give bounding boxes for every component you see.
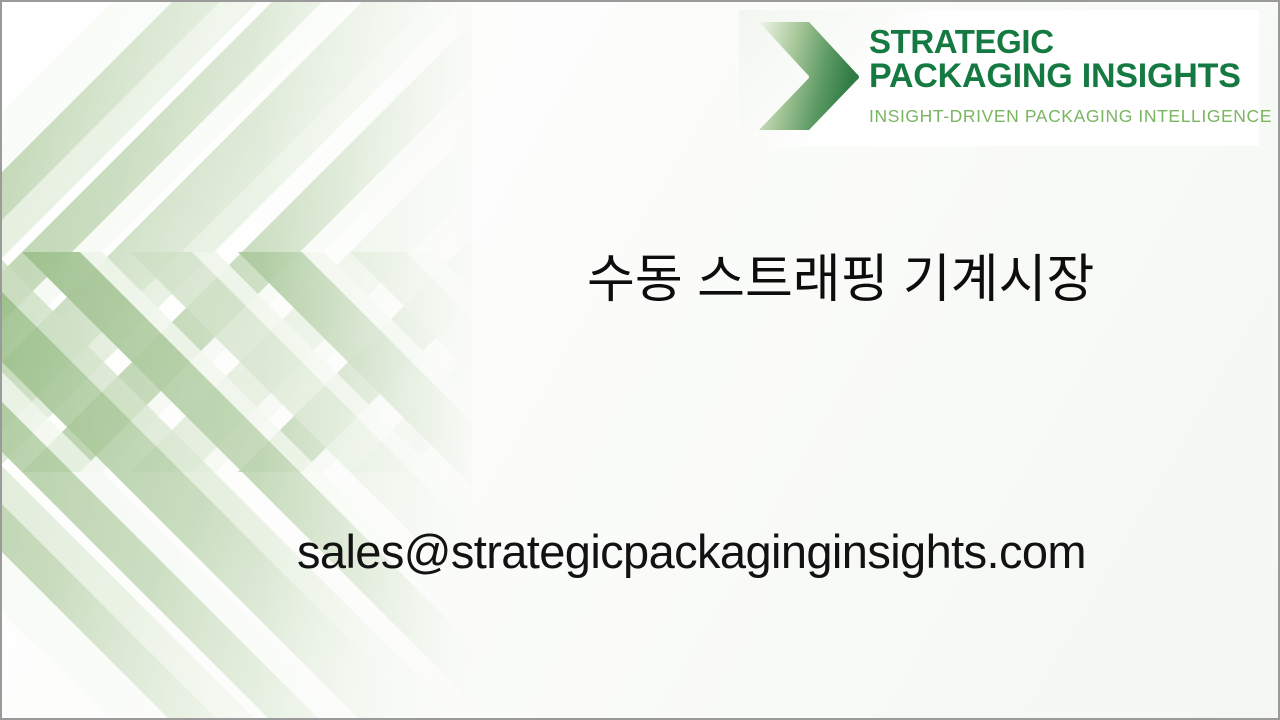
logo-name-line-1: STRATEGIC xyxy=(869,24,1272,59)
chevron-stripes-graphic xyxy=(2,2,472,720)
presentation-slide: STRATEGIC PACKAGING INSIGHTS INSIGHT-DRI… xyxy=(0,0,1280,720)
company-logo: STRATEGIC PACKAGING INSIGHTS INSIGHT-DRI… xyxy=(739,10,1259,146)
logo-tagline: INSIGHT-DRIVEN PACKAGING INTELLIGENCE xyxy=(869,106,1272,127)
contact-email: sales@strategicpackaginginsights.com xyxy=(297,522,1086,582)
page-title: 수동 스트래핑 기계시장 xyxy=(587,248,1094,312)
chevron-right-icon xyxy=(747,16,865,136)
logo-name-line-2: PACKAGING INSIGHTS xyxy=(869,59,1272,94)
